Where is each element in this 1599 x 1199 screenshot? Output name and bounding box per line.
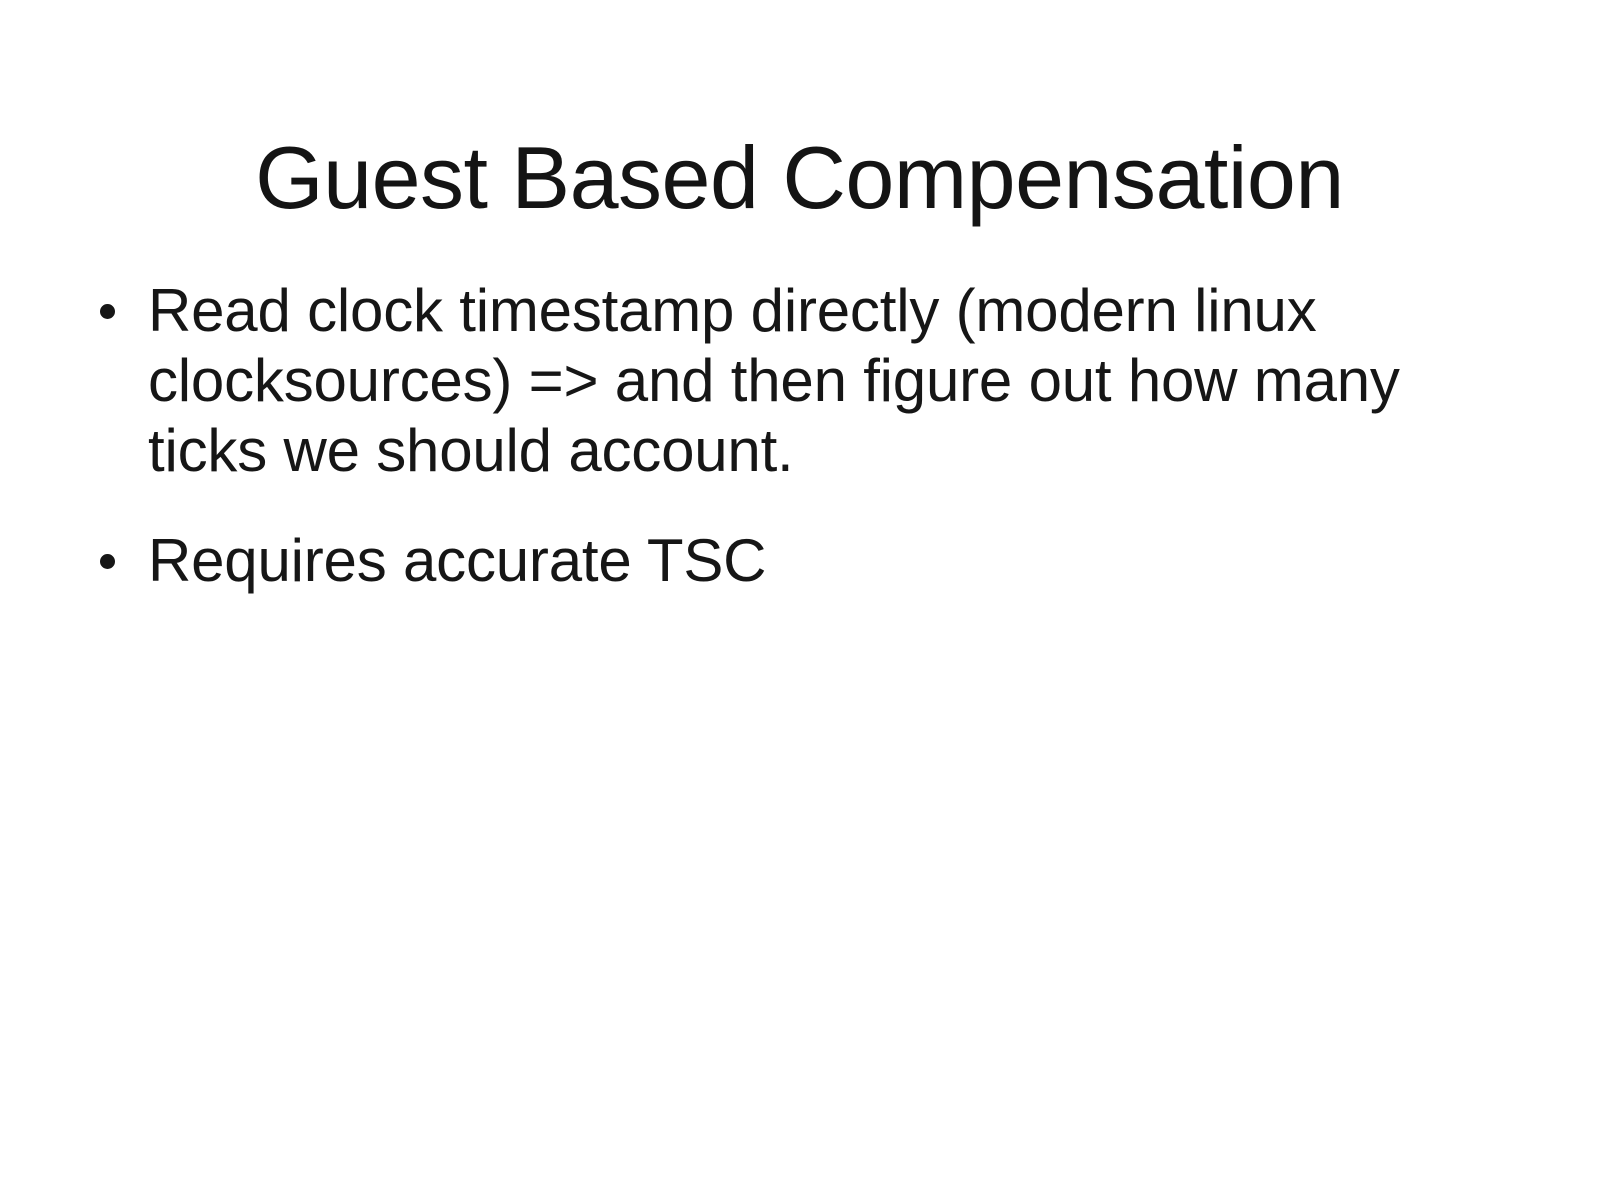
list-item: Requires accurate TSC: [96, 526, 1516, 596]
presentation-slide: Guest Based Compensation Read clock time…: [0, 0, 1599, 1199]
bullet-dot-icon: [100, 554, 115, 569]
bullet-dot-icon: [100, 304, 115, 319]
list-item-label: Read clock timestamp directly (modern li…: [148, 276, 1500, 486]
slide-title: Guest Based Compensation: [80, 131, 1519, 224]
list-item: Read clock timestamp directly (modern li…: [96, 276, 1516, 486]
slide-body-list: Read clock timestamp directly (modern li…: [96, 276, 1516, 596]
list-item-label: Requires accurate TSC: [148, 526, 1500, 596]
